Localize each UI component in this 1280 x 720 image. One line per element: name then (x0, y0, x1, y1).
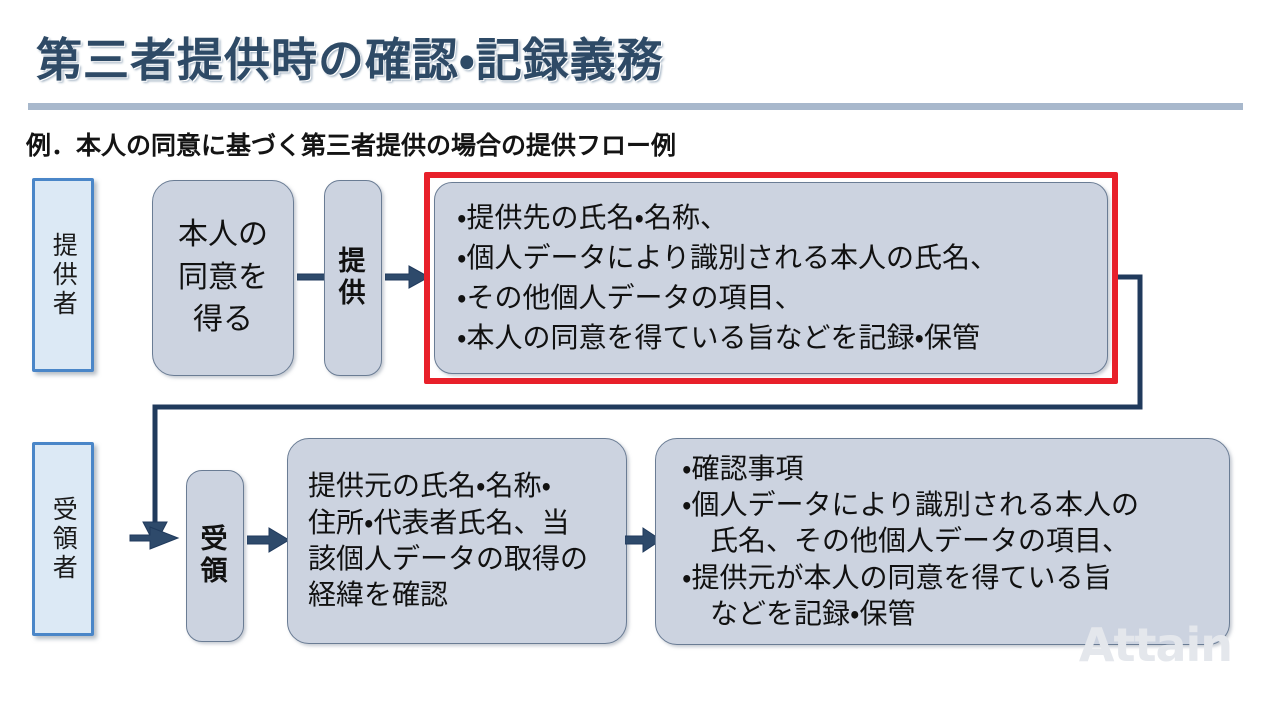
text-line: 供 (325, 278, 381, 310)
attain-watermark: Attain (1079, 618, 1232, 672)
text-line: 得る (153, 299, 293, 342)
text-line: 提供元の氏名・名称・ (308, 468, 626, 504)
text-line: 本人の (153, 214, 293, 257)
role-label-provider-text: 提供者 (48, 232, 79, 319)
step-box-provide-text: 提 供 (325, 246, 381, 311)
text-line: 住所・代表者氏名、当 (308, 505, 626, 541)
step-box-obtain-consent-text: 本人の 同意を 得る (153, 214, 293, 342)
slide-root: 第三者提供時の確認・記録義務 例．本人の同意に基づく第三者提供の場合の提供フロー… (0, 0, 1280, 720)
role-label-receiver-text: 受領者 (48, 496, 79, 583)
text-line: 受 (187, 524, 243, 556)
bullet-line: ・確認事項 (682, 451, 1229, 487)
text-line: 同意を (153, 257, 293, 300)
bullet-line: ・提供元が本人の同意を得ている旨 (682, 560, 1229, 596)
role-label-provider: 提供者 (32, 178, 94, 372)
title-divider (28, 103, 1243, 110)
bullet-line: ・個人データにより識別される本人の (682, 487, 1229, 523)
bullet-line: ・提供先の氏名・名称、 (457, 198, 1107, 238)
bullet-line: ・個人データにより識別される本人の氏名、 (457, 238, 1107, 278)
bullet-line: ・本人の同意を得ている旨などを記録・保管 (457, 318, 1107, 358)
record-box-provider-text: ・提供先の氏名・名称、 ・個人データにより識別される本人の氏名、 ・その他個人デ… (435, 198, 1107, 358)
bullet-line: 氏名、その他個人データの項目、 (682, 523, 1229, 559)
record-box-receiver-text: ・確認事項 ・個人データにより識別される本人の 氏名、その他個人データの項目、 … (656, 451, 1229, 633)
confirm-box-receiver-text: 提供元の氏名・名称・ 住所・代表者氏名、当 該個人データの取得の 経緯を確認 (288, 468, 626, 614)
step-box-receive[interactable]: 受 領 (186, 470, 244, 642)
confirm-box-receiver[interactable]: 提供元の氏名・名称・ 住所・代表者氏名、当 該個人データの取得の 経緯を確認 (287, 438, 627, 644)
step-box-receive-text: 受 領 (187, 524, 243, 589)
subtitle: 例．本人の同意に基づく第三者提供の場合の提供フロー例 (26, 126, 676, 162)
bullet-line: ・その他個人データの項目、 (457, 278, 1107, 318)
step-box-provide[interactable]: 提 供 (324, 180, 382, 376)
text-line: 経緯を確認 (308, 577, 626, 613)
record-box-receiver[interactable]: ・確認事項 ・個人データにより識別される本人の 氏名、その他個人データの項目、 … (655, 438, 1230, 645)
step-box-obtain-consent[interactable]: 本人の 同意を 得る (152, 180, 294, 376)
arrow-receive-to-confirm (247, 527, 291, 553)
page-title: 第三者提供時の確認・記録義務 (36, 24, 664, 90)
role-label-receiver: 受領者 (32, 442, 94, 636)
text-line: 領 (187, 556, 243, 588)
text-line: 該個人データの取得の (308, 541, 626, 577)
record-box-provider[interactable]: ・提供先の氏名・名称、 ・個人データにより識別される本人の氏名、 ・その他個人デ… (434, 182, 1108, 374)
text-line: 提 (325, 246, 381, 278)
